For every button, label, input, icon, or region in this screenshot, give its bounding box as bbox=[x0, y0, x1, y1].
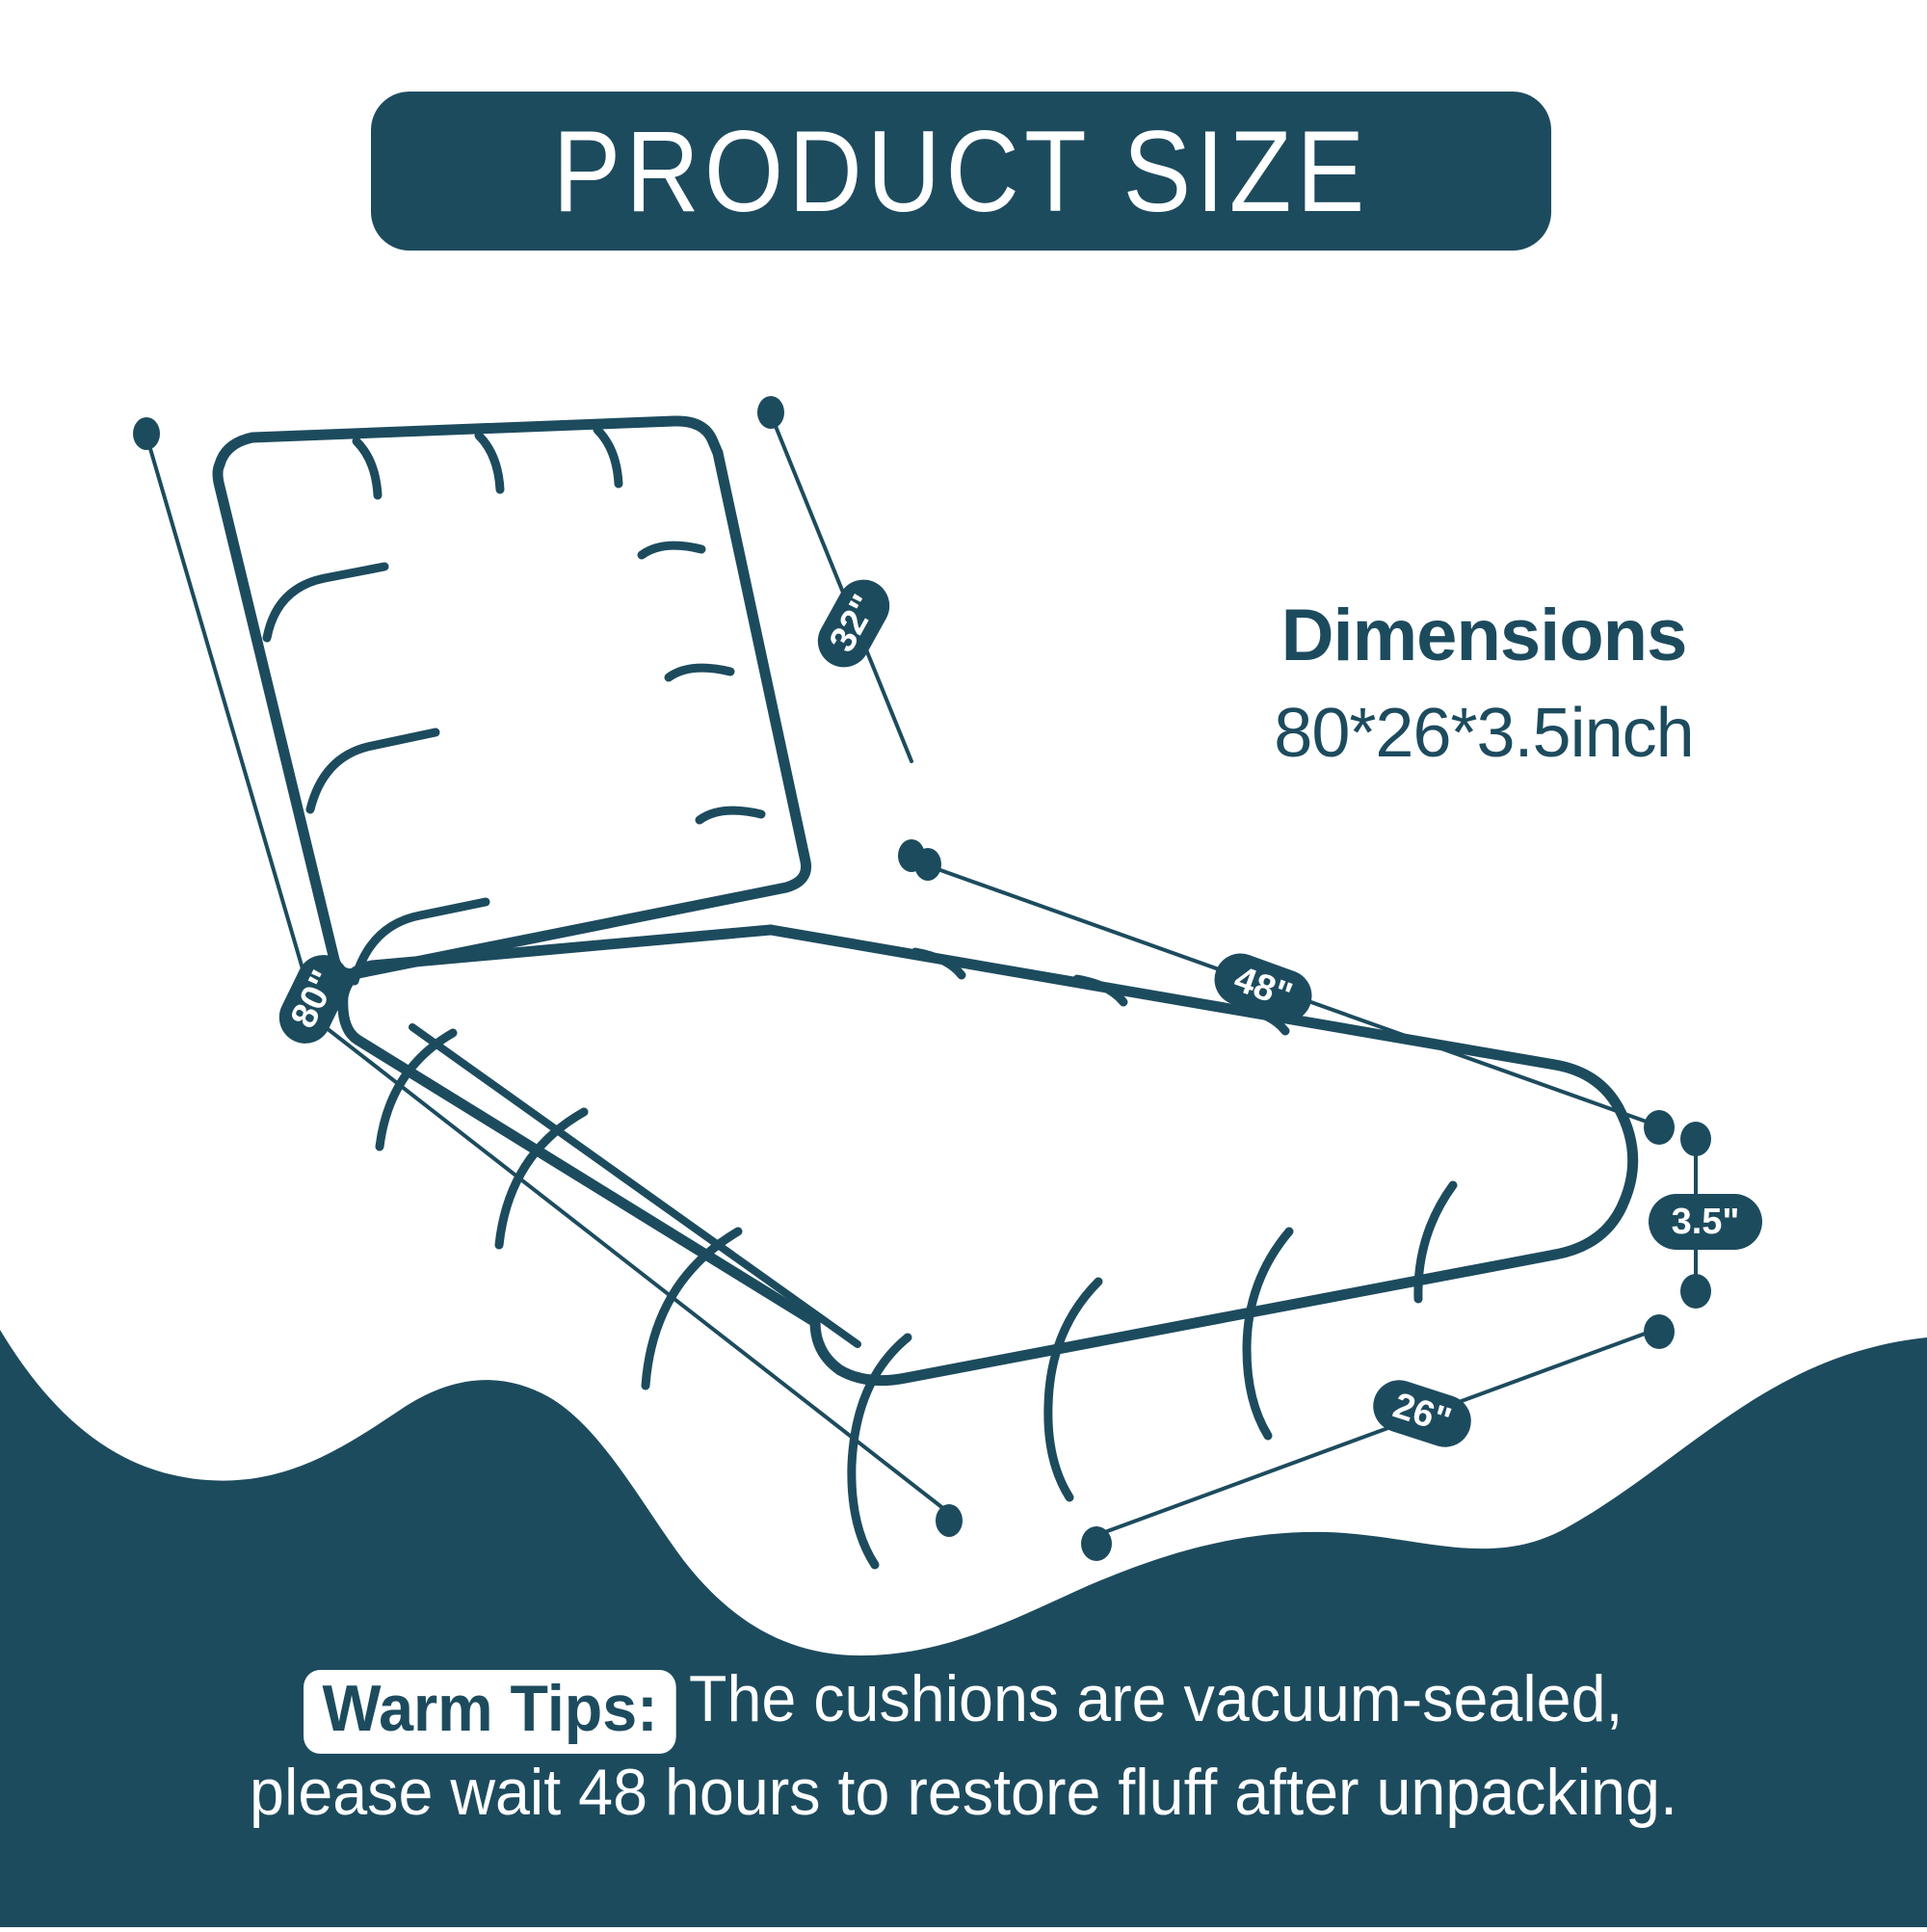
backrest-channel-lines bbox=[267, 567, 486, 981]
warm-tips-block: Warm Tips:The cushions are vacuum-sealed… bbox=[0, 1653, 1927, 1839]
dimension-label-thickness: 3.5" bbox=[1649, 1194, 1762, 1250]
dimensions-value: 80*26*3.5inch bbox=[1175, 696, 1792, 772]
backrest-top-stitches bbox=[356, 430, 619, 495]
infographic-canvas: PRODUCT SIZE bbox=[0, 0, 1927, 1927]
warm-tips-text-1: The cushions are vacuum-sealed, bbox=[689, 1662, 1623, 1735]
dimensions-panel: Dimensions 80*26*3.5inch bbox=[1175, 597, 1792, 772]
warm-tips-chip: Warm Tips: bbox=[304, 1670, 676, 1754]
dimensions-heading: Dimensions bbox=[1175, 597, 1792, 675]
warm-tips-line-1: Warm Tips:The cushions are vacuum-sealed… bbox=[48, 1653, 1879, 1746]
warm-tips-line-2: please wait 48 hours to restore fluff af… bbox=[48, 1746, 1879, 1839]
backrest-outline bbox=[218, 421, 806, 974]
